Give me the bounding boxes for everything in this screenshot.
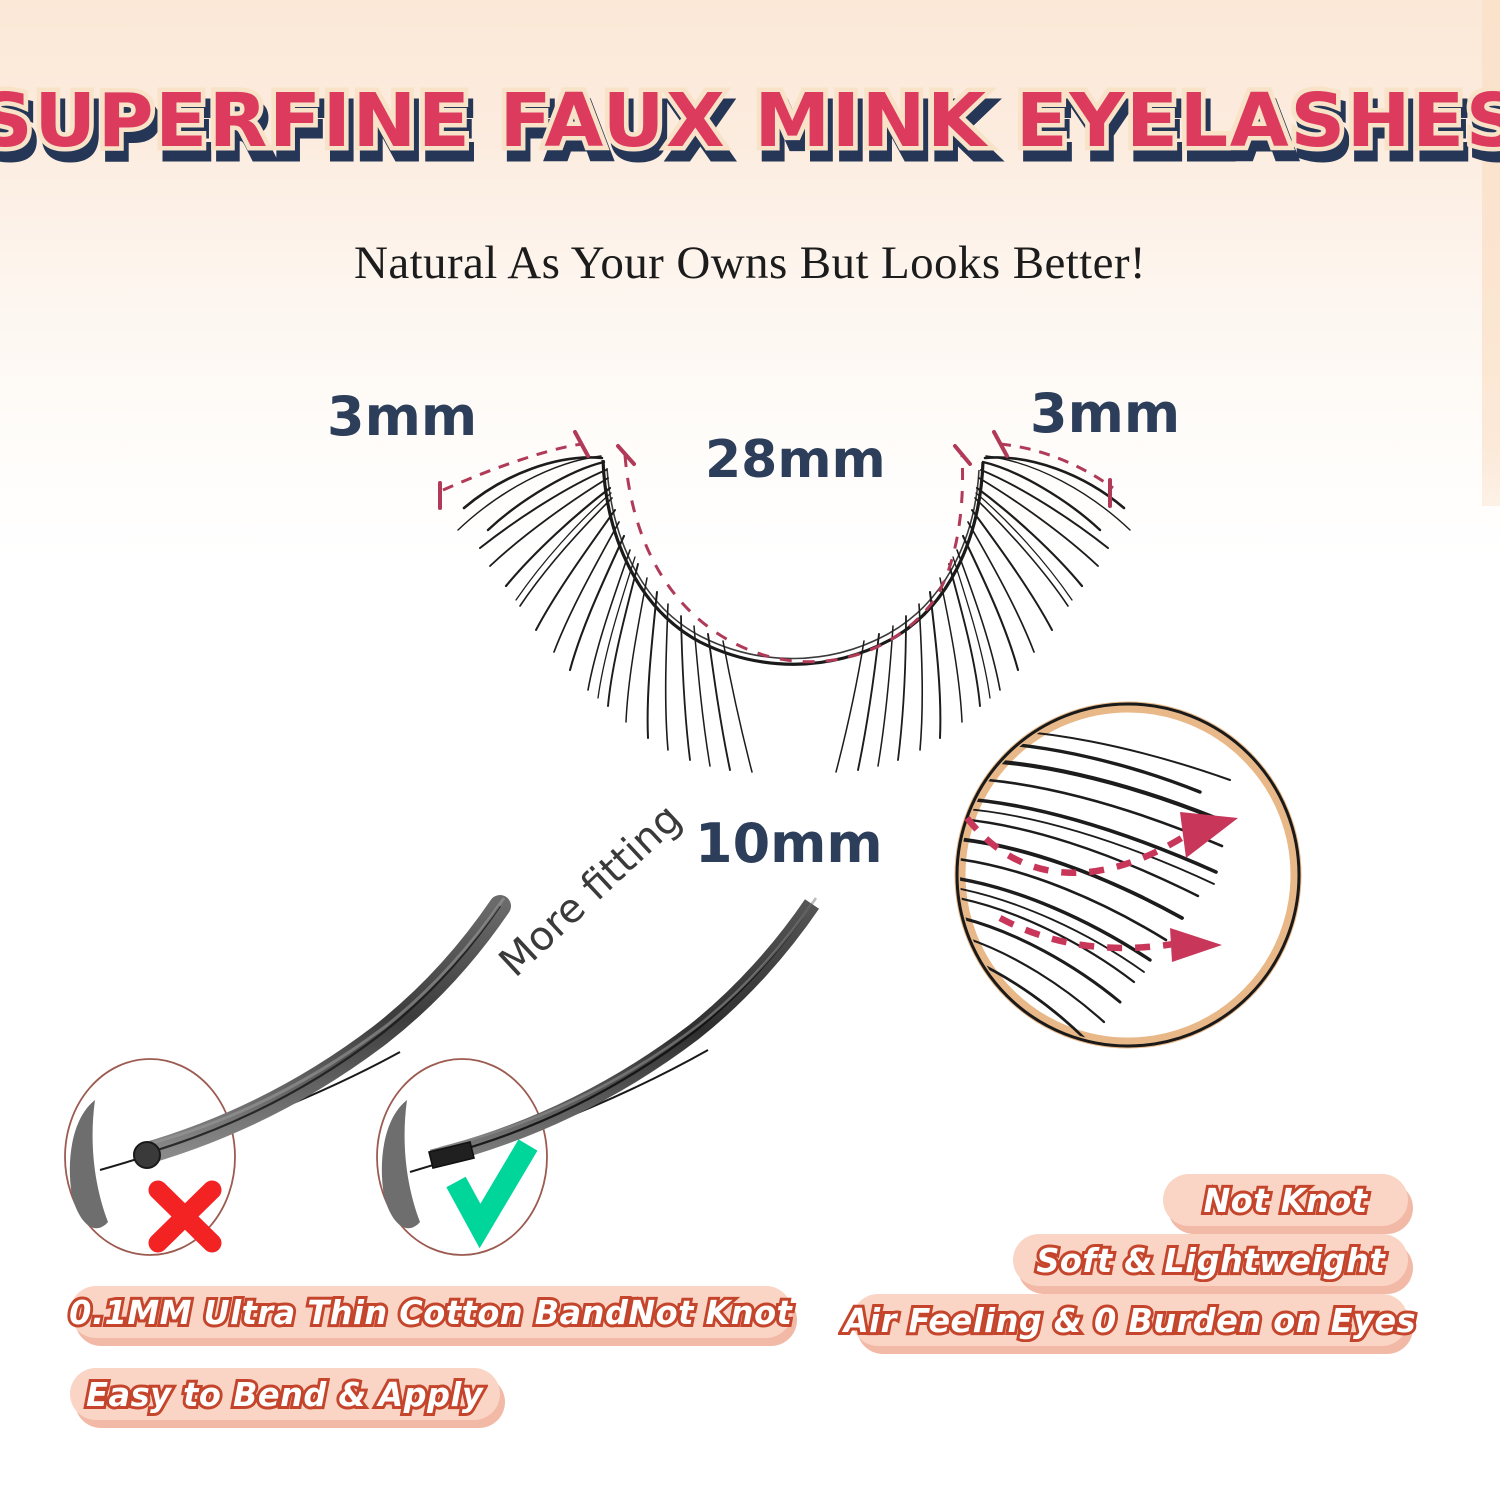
comparison-bad: [65, 898, 504, 1255]
more-fitting-caption: More fitting: [491, 795, 691, 986]
page-title: SUPERFINE FAUX MINK EYELASHES: [0, 84, 1500, 158]
badge-ultra-thin-band: 0.1MM Ultra Thin Cotton BandNot Knot: [70, 1286, 792, 1338]
comparison-good: [377, 898, 816, 1255]
measure-label-left-tip: 3mm: [327, 385, 477, 448]
badge-label: Easy to Bend & Apply: [86, 1375, 483, 1414]
measure-label-right-tip: 3mm: [1030, 382, 1180, 445]
badge-not-knot: Not Knot: [1163, 1174, 1408, 1226]
magnifier-arrows: [967, 818, 1188, 948]
badge-label: Soft & Lightweight: [1036, 1241, 1385, 1280]
infographic-page: SUPERFINE FAUX MINK EYELASHES SUPERFINE …: [0, 0, 1500, 1500]
magnifier-arrow-head-1: [1180, 812, 1238, 858]
measure-label-band-width: 28mm: [705, 430, 886, 490]
magnifier-circle: [946, 704, 1299, 1046]
lash-hairs-left: [458, 456, 752, 772]
magnified-lashes: [946, 730, 1230, 1040]
badge-label: Air Feeling & 0 Burden on Eyes: [844, 1301, 1416, 1340]
badge-label: Not Knot: [1203, 1181, 1367, 1220]
page-subtitle: Natural As Your Owns But Looks Better!: [0, 236, 1500, 290]
check-icon: [456, 1145, 528, 1226]
badge-label: 0.1MM Ultra Thin Cotton BandNot Knot: [69, 1293, 792, 1332]
badge-air-feeling: Air Feeling & 0 Burden on Eyes: [852, 1294, 1408, 1346]
cross-icon: [158, 1190, 212, 1243]
measure-label-lash-length: 10mm: [695, 812, 883, 875]
badge-easy-to-bend: Easy to Bend & Apply: [70, 1368, 500, 1420]
lash-band: [603, 460, 983, 664]
header: SUPERFINE FAUX MINK EYELASHES SUPERFINE …: [0, 0, 1500, 340]
lash-hairs-right: [836, 456, 1130, 772]
magnifier-arrow-head-2: [1170, 928, 1222, 962]
badge-soft-lightweight: Soft & Lightweight: [1013, 1234, 1408, 1286]
